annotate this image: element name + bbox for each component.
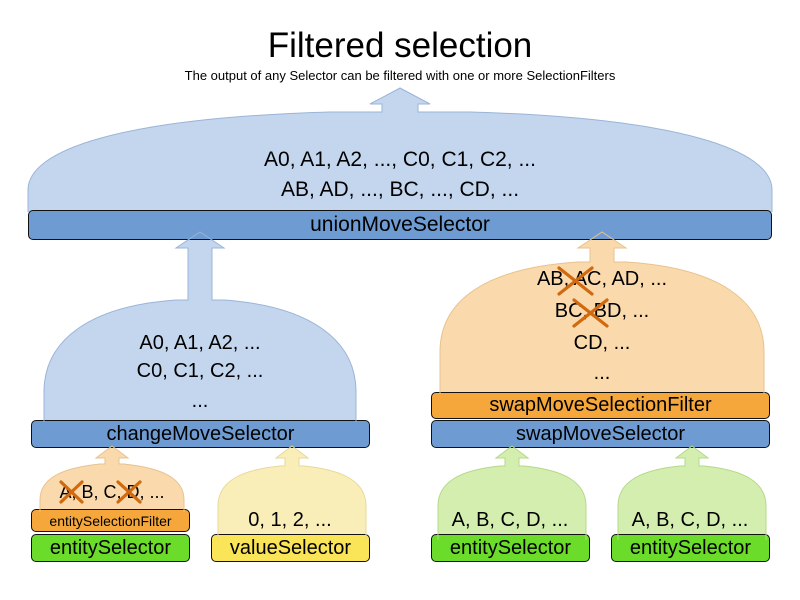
value-selector-bar[interactable]: valueSelector [211,534,370,562]
entity-selector-swap-left-bar[interactable]: entitySelector [431,534,590,562]
page-subtitle: The output of any Selector can be filter… [0,68,800,84]
change-output-line-3: ... [44,390,356,414]
entity-filtered-output-line-1: A, B, C, D, ... [28,482,196,503]
entity-selector-swap-right-bar[interactable]: entitySelector [611,534,770,562]
entity-swap-left-output-line-1: A, B, C, D, ... [430,509,590,533]
swap-output-line-3: CD, ... [440,332,764,356]
page-title: Filtered selection [0,26,800,66]
entity-selector-filtered-bar[interactable]: entitySelector [31,534,190,562]
entity-swap-right-output-line-1: A, B, C, D, ... [610,509,770,533]
swap-output-line-1: AB, AC, AD, ... [440,268,764,292]
change-output-line-2: C0, C1, C2, ... [44,360,356,384]
change-output-line-1: A0, A1, A2, ... [44,332,356,356]
union-move-selector-bar[interactable]: unionMoveSelector [28,210,772,240]
swap-output-line-2: BC, BD, ... [440,300,764,324]
swap-output-line-4: ... [440,362,764,386]
value-output-line-1: 0, 1, 2, ... [210,509,370,533]
union-output-line-2: AB, AD, ..., BC, ..., CD, ... [0,178,800,203]
diagram-canvas: Filtered selection The output of any Sel… [0,0,800,600]
union-output-line-1: A0, A1, A2, ..., C0, C1, C2, ... [0,148,800,173]
change-move-selector-bar[interactable]: changeMoveSelector [31,420,370,448]
swap-move-selection-filter-bar[interactable]: swapMoveSelectionFilter [431,392,770,419]
swap-move-selector-bar[interactable]: swapMoveSelector [431,420,770,448]
entity-selection-filter-bar[interactable]: entitySelectionFilter [31,509,190,532]
